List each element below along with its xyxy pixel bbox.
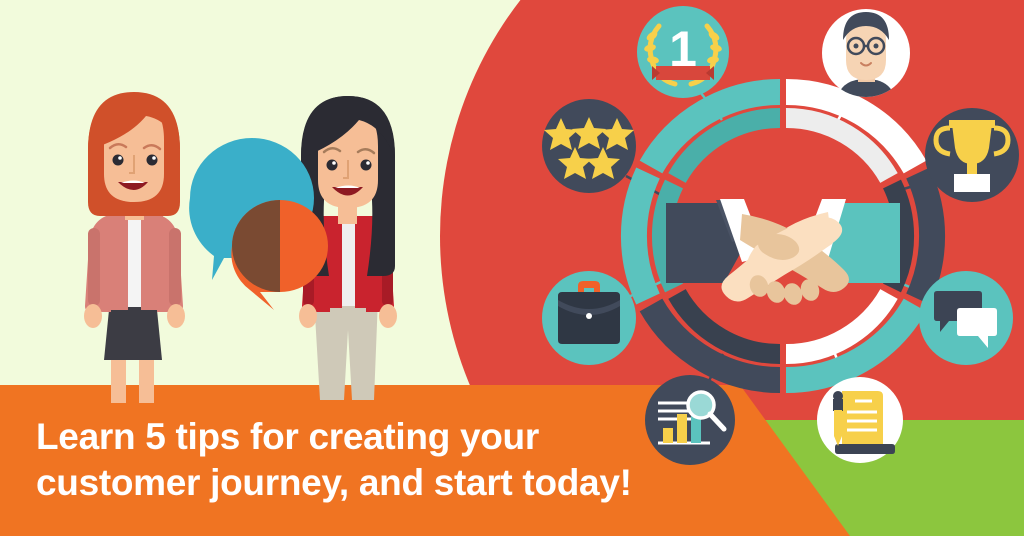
headline-text: Learn 5 tips for creating your customer …	[36, 414, 676, 506]
pen-body	[834, 410, 842, 436]
briefcase-lock	[586, 313, 592, 319]
medal-number-one-icon[interactable]: 1	[637, 6, 729, 98]
ring-outer-right	[918, 173, 932, 299]
avatar-eye-left	[854, 44, 859, 49]
trophy-base-plate	[954, 174, 990, 192]
document-pen-icon[interactable]	[817, 377, 903, 463]
document-page	[842, 391, 883, 444]
trophy-rim	[949, 120, 995, 128]
five-stars-rating-icon[interactable]	[542, 99, 636, 193]
chat-bubbles-icon[interactable]	[919, 271, 1013, 365]
handshake-icon	[666, 199, 900, 307]
pen-top	[833, 391, 843, 401]
handshake-wheel	[634, 92, 932, 380]
avatar-eye-right	[874, 44, 879, 49]
ring-outer-left	[634, 173, 648, 299]
ribbon-band	[656, 66, 710, 80]
briefcase-icon[interactable]	[542, 271, 636, 365]
poster-canvas: 1	[0, 0, 1024, 536]
bar-2	[677, 414, 687, 443]
document-desk	[835, 444, 895, 454]
trophy-icon[interactable]	[925, 108, 1019, 202]
